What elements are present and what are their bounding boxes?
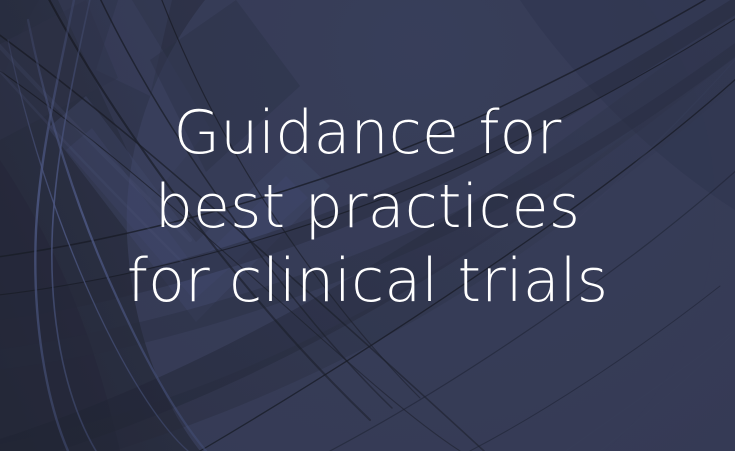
title-slide: Guidance for best practices for clinical… — [0, 0, 735, 451]
decorative-background-art — [0, 0, 735, 451]
